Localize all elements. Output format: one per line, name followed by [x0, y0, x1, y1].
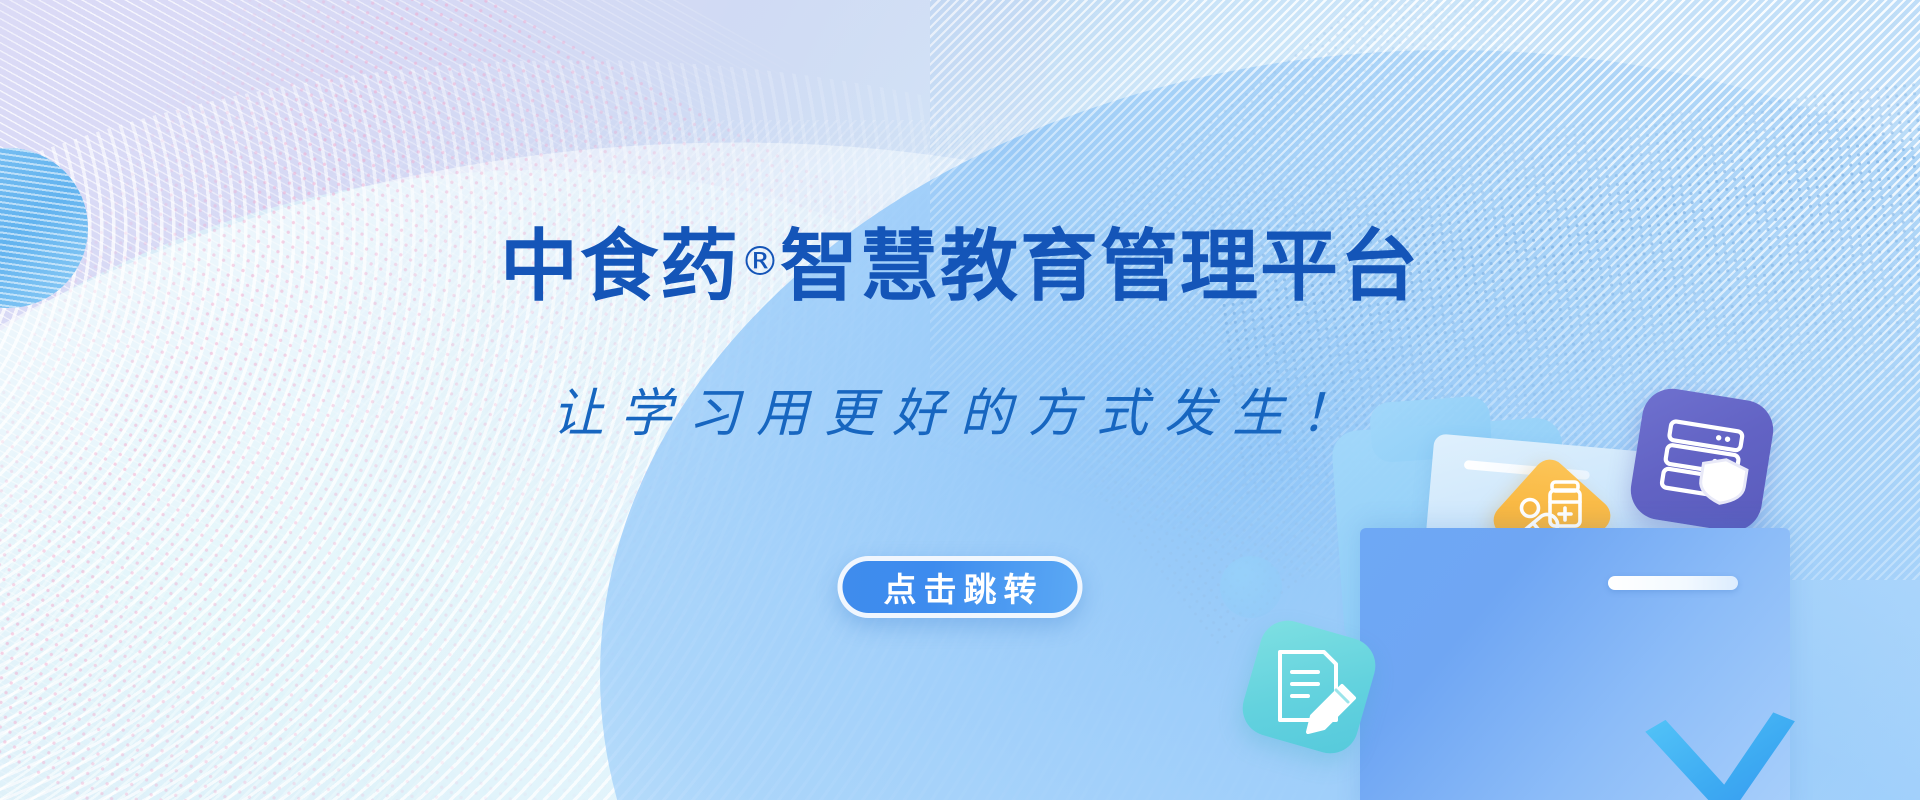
registered-trademark-icon: ® [740, 239, 780, 285]
jump-button[interactable]: 点击跳转 [838, 556, 1083, 618]
page-title-part-2: 智慧教育管理平台 [780, 222, 1420, 312]
hero-banner: 中食药®智慧教育管理平台 让学习用更好的方式发生！ 点击跳转 [0, 0, 1920, 800]
hero-content: 中食药®智慧教育管理平台 让学习用更好的方式发生！ 点击跳转 [0, 0, 1920, 800]
page-title: 中食药®智慧教育管理平台 [0, 228, 1920, 306]
page-subtitle: 让学习用更好的方式发生！ [0, 388, 1920, 440]
page-title-part-1: 中食药 [500, 222, 740, 312]
